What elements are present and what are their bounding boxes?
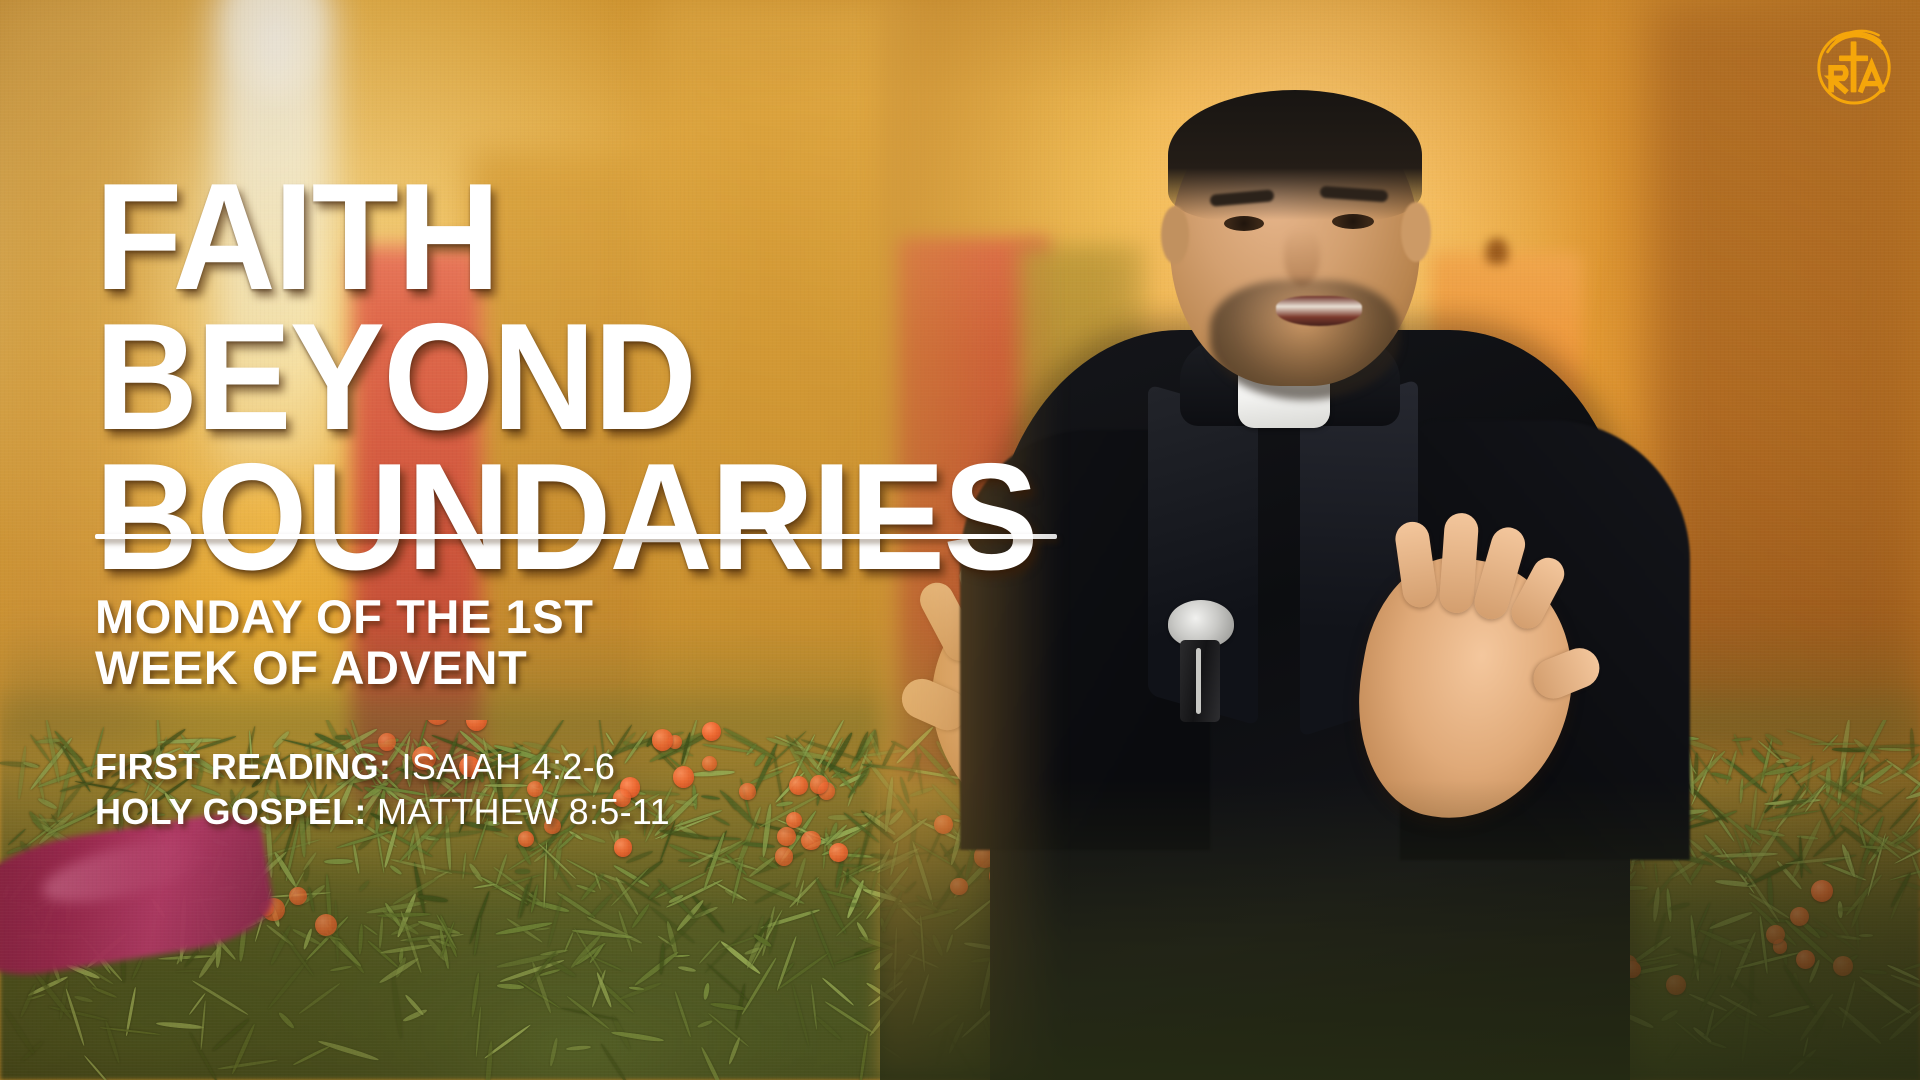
title-line-2: BOUNDARIES (95, 448, 1035, 588)
text-overlay: FAITH BEYOND BOUNDARIES MONDAY OF THE 1S… (0, 0, 1160, 1080)
eye-left (1224, 216, 1264, 231)
ear-right (1401, 202, 1431, 262)
nose (1284, 228, 1320, 286)
list-item: HOLY GOSPEL: MATTHEW 8:5-11 (95, 789, 670, 834)
readings-list: FIRST READING: ISAIAH 4:2-6 HOLY GOSPEL:… (95, 744, 670, 835)
first-reading-label: FIRST READING: (95, 746, 391, 787)
title-line-1: FAITH BEYOND (95, 168, 1035, 448)
liturgical-day-subtitle: MONDAY OF THE 1ST WEEK OF ADVENT (95, 592, 594, 694)
subtitle-line-1: MONDAY OF THE 1ST (95, 592, 594, 643)
thumbnail-canvas: FAITH BEYOND BOUNDARIES MONDAY OF THE 1S… (0, 0, 1920, 1080)
subtitle-line-2: WEEK OF ADVENT (95, 643, 594, 694)
mouth (1276, 296, 1362, 326)
rta-logo (1810, 22, 1898, 110)
microphone-clip (1196, 648, 1201, 714)
page-title: FAITH BEYOND BOUNDARIES (95, 168, 1035, 587)
first-reading-reference: ISAIAH 4:2-6 (402, 746, 616, 787)
holy-gospel-label: HOLY GOSPEL: (95, 791, 367, 832)
ear-left (1161, 206, 1189, 264)
holy-gospel-reference: MATTHEW 8:5-11 (377, 791, 670, 832)
list-item: FIRST READING: ISAIAH 4:2-6 (95, 744, 670, 789)
eye-right (1332, 214, 1374, 229)
divider (95, 534, 1057, 539)
